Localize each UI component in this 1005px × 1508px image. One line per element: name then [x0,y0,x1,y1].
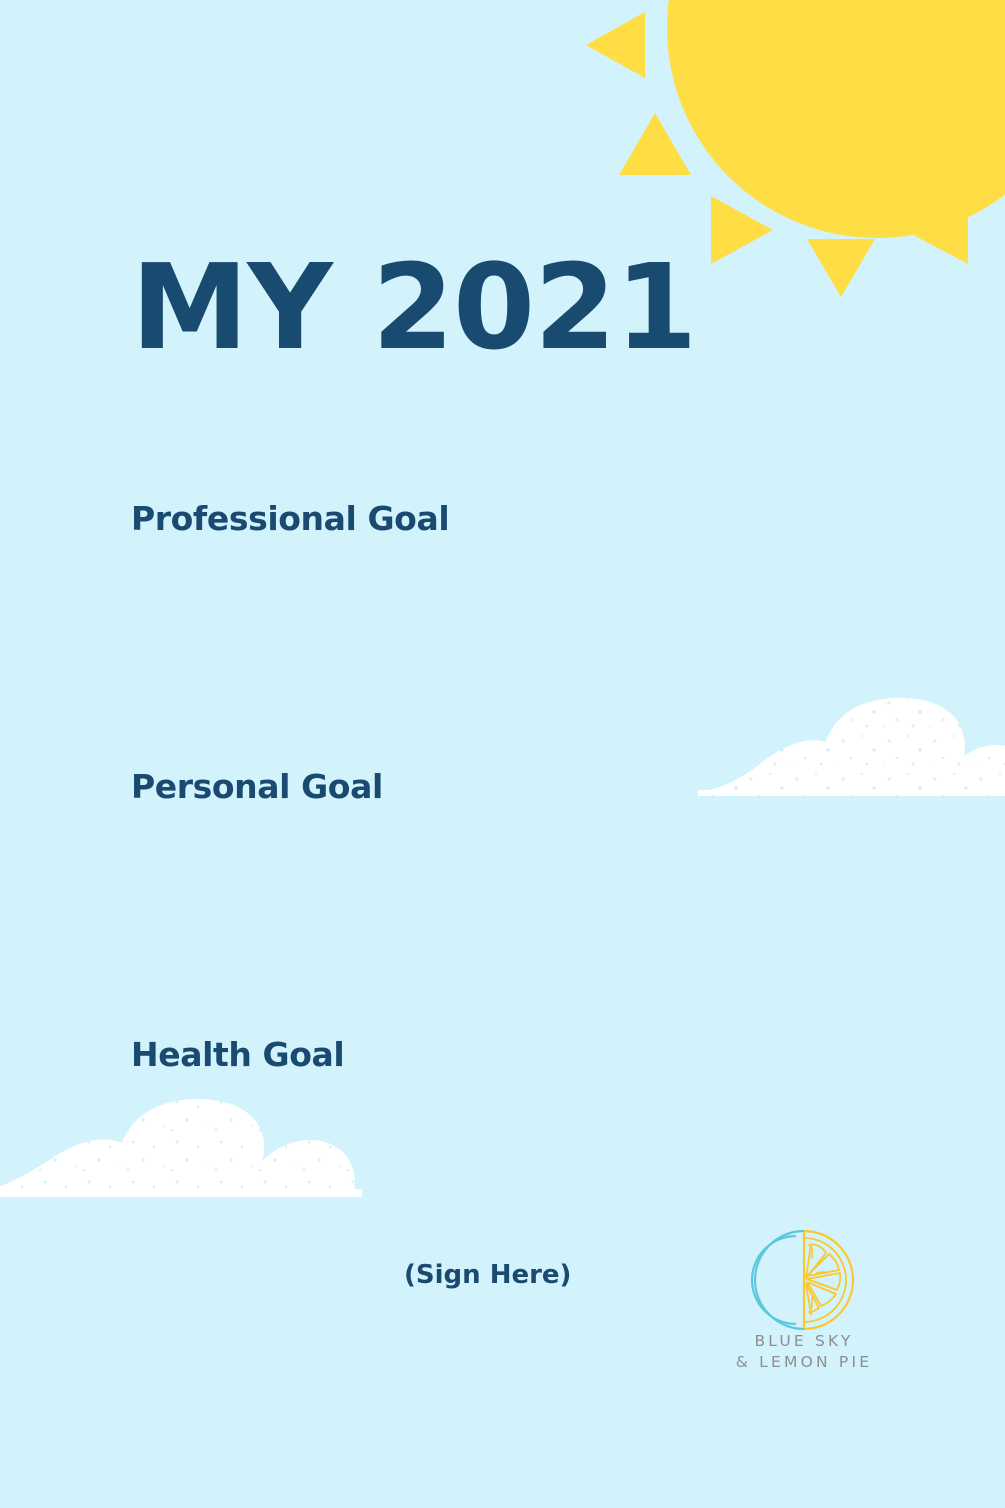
logo-wordmark-line2: & LEMON PIE [704,1352,904,1373]
sun-disc [667,0,1005,238]
sun-ray-up [619,113,691,175]
cloud-icon-left [0,1095,372,1210]
cloud-icon-right [698,694,1005,809]
page-title: MY 2021 [131,248,696,366]
sign-here-label: (Sign Here) [404,1262,571,1288]
brand-logo: BLUE SKY & LEMON PIE [704,1228,904,1378]
goal-label-personal: Personal Goal [131,770,383,803]
lemon-slice-icon [749,1228,859,1332]
logo-wordmark-line1: BLUE SKY [704,1331,904,1352]
goal-label-health: Health Goal [131,1038,344,1071]
logo-wordmark: BLUE SKY & LEMON PIE [704,1331,904,1373]
sun-ray-down [807,239,875,297]
sun-ray-right-lower [711,196,773,264]
sun-ray-left-upper [586,12,645,78]
sun-ray-edge [993,138,1005,180]
sun-ray-left-lower [906,198,968,264]
goals-poster: MY 2021 Professional Goal Personal Goal … [0,0,1005,1508]
goal-label-professional: Professional Goal [131,502,449,535]
